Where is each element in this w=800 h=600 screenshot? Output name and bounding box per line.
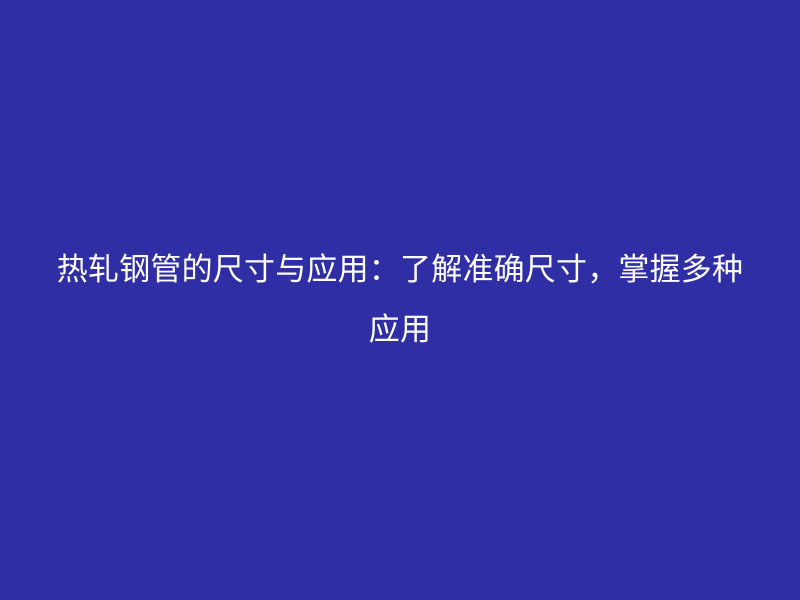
title-card: 热轧钢管的尺寸与应用：了解准确尺寸，掌握多种应用: [0, 0, 800, 600]
title-block: 热轧钢管的尺寸与应用：了解准确尺寸，掌握多种应用: [55, 240, 745, 360]
page-title: 热轧钢管的尺寸与应用：了解准确尺寸，掌握多种应用: [55, 240, 745, 360]
